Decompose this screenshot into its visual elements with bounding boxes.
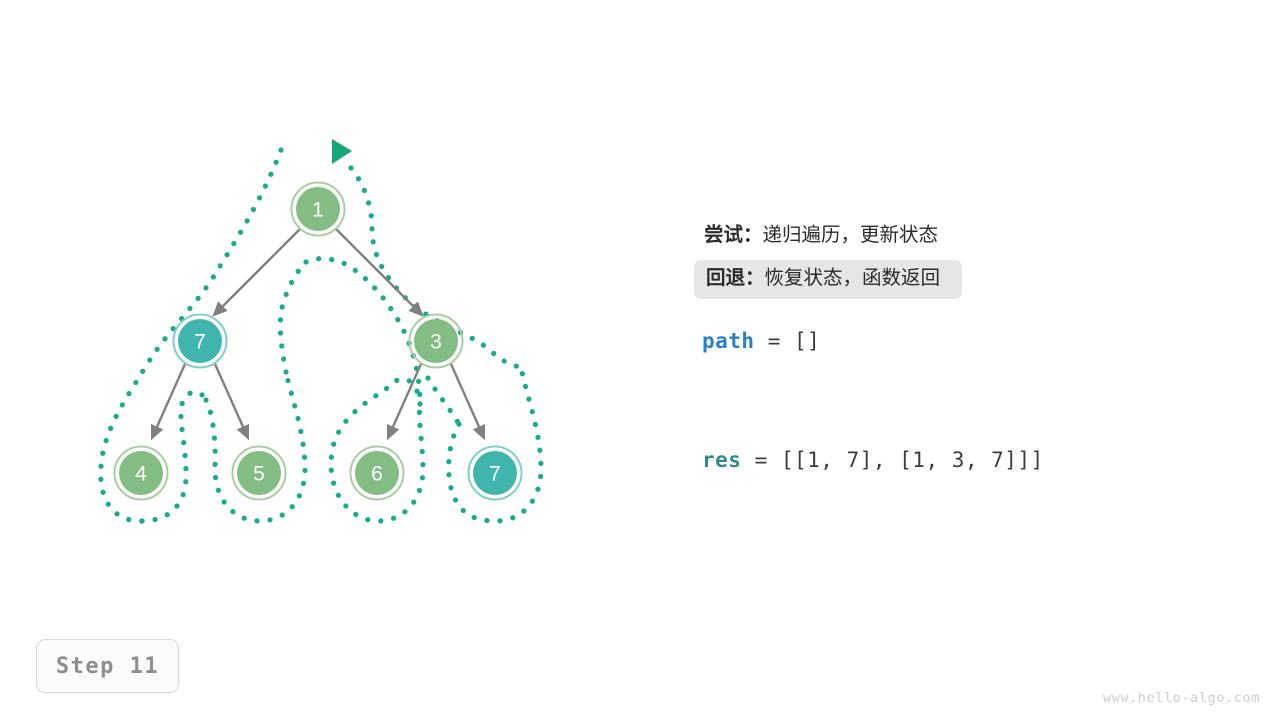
edge-1-3 <box>336 229 422 315</box>
node-value: 3 <box>430 331 442 354</box>
res-equals: = <box>741 448 780 472</box>
node-value: 4 <box>135 463 147 486</box>
res-value: [[1, 7], [1, 3, 7]]] <box>781 448 1044 472</box>
watermark: www.hello-algo.com <box>1103 690 1260 706</box>
edge-7-4 <box>152 364 185 438</box>
step-badge-label: Step 11 <box>56 654 159 679</box>
edge-3-7 <box>451 364 484 438</box>
tree-nodes-group: 1 7 3 4 5 <box>115 183 522 500</box>
backtrack-text: 恢复状态，函数返回 <box>765 267 941 289</box>
edge-7-5 <box>215 364 248 438</box>
step-badge: Step 11 <box>36 639 179 693</box>
state-description-panel: 尝试：递归遍历，更新状态 回退：恢复状态，函数返回 <box>700 218 1240 299</box>
trace-node3-to-node7 <box>428 378 459 424</box>
tree-diagram-panel: 1 7 3 4 5 <box>0 0 640 720</box>
tree-node-2[interactable]: 7 <box>174 315 227 368</box>
watermark-text: www.hello-algo.com <box>1103 690 1260 706</box>
path-var-name: path <box>702 329 755 353</box>
node-value: 1 <box>312 199 324 222</box>
tree-node-7[interactable]: 7 <box>469 447 522 500</box>
traversal-cursor-icon <box>332 139 352 164</box>
tree-node-4[interactable]: 4 <box>115 447 168 500</box>
backtrack-row: 回退：恢复状态，函数返回 <box>694 260 962 300</box>
node-value: 5 <box>253 463 265 486</box>
edge-1-7 <box>214 229 300 315</box>
res-variable-row: res = [[1, 7], [1, 3, 7]]] <box>702 448 1044 472</box>
try-row: 尝试：递归遍历，更新状态 <box>700 218 948 256</box>
tree-svg-canvas: 1 7 3 4 5 <box>0 0 640 720</box>
path-value: [] <box>794 329 820 353</box>
node-value: 6 <box>371 463 383 486</box>
tree-node-5[interactable]: 5 <box>233 447 286 500</box>
edge-3-6 <box>388 364 421 438</box>
tree-node-6[interactable]: 6 <box>351 447 404 500</box>
try-label: 尝试： <box>704 224 763 246</box>
trace-root-right-descent <box>306 259 420 404</box>
path-equals: = <box>755 329 794 353</box>
path-variable-row: path = [] <box>702 329 820 353</box>
try-text: 递归遍历，更新状态 <box>763 224 939 246</box>
tree-node-3[interactable]: 3 <box>410 315 463 368</box>
node-value: 7 <box>194 331 206 354</box>
node-value: 7 <box>489 463 501 486</box>
tree-node-1[interactable]: 1 <box>292 183 345 236</box>
backtrack-label: 回退： <box>706 267 765 289</box>
res-var-name: res <box>702 448 741 472</box>
trace-left-subtree-return <box>280 262 306 372</box>
